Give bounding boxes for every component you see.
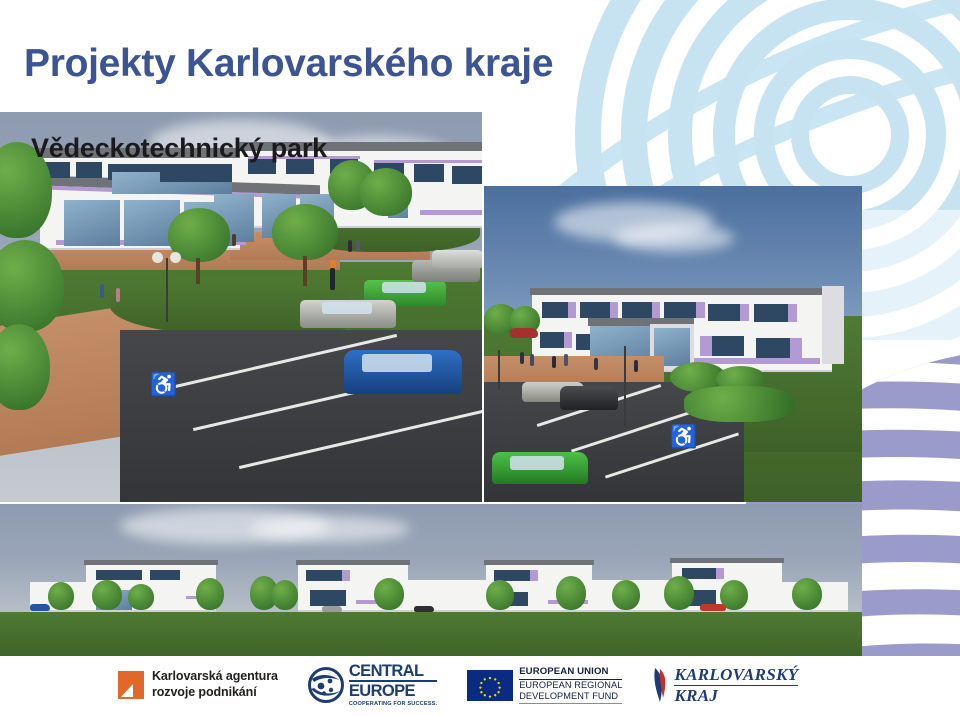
- render-top-left: ♿: [0, 112, 482, 502]
- karlovarska-agentura-logo: Karlovarská agentura rozvoje podnikání: [118, 669, 278, 700]
- ka-line-2: rozvoje podnikání: [152, 685, 257, 699]
- eu-flag-stars-icon: [467, 670, 513, 701]
- orange-square-mark-icon: [118, 671, 144, 699]
- flame-mark-icon: [652, 666, 668, 704]
- render-bottom-wide: [0, 504, 862, 656]
- footer-logo-strip: Karlovarská agentura rozvoje podnikání C…: [118, 662, 798, 708]
- ce-line-1: CENTRAL: [349, 663, 437, 683]
- swirl-globe-mark-icon: [308, 667, 344, 703]
- karlovarsky-kraj-text: KARLOVARSKÝ KRAJ: [674, 665, 798, 704]
- eu-line-2: EUROPEAN REGIONAL: [519, 680, 622, 691]
- ce-tagline: COOPERATING FOR SUCCESS.: [349, 702, 437, 708]
- render-top-right: ♿: [484, 186, 862, 502]
- ka-line-1: Karlovarská agentura: [152, 669, 278, 683]
- slide-subtitle: Vědeckotechnický park: [31, 133, 327, 164]
- karlovarska-agentura-text: Karlovarská agentura rozvoje podnikání: [152, 669, 278, 700]
- eu-line-1: EUROPEAN UNION: [519, 666, 622, 679]
- kk-line-1: KARLOVARSKÝ: [674, 665, 798, 685]
- central-europe-logo: CENTRAL EUROPE COOPERATING FOR SUCCESS.: [308, 663, 437, 708]
- karlovarsky-kraj-logo: KARLOVARSKÝ KRAJ: [652, 665, 798, 704]
- european-union-logo: EUROPEAN UNION EUROPEAN REGIONAL DEVELOP…: [467, 666, 622, 703]
- eu-line-3: DEVELOPMENT FUND: [519, 691, 622, 704]
- slide-title: Projekty Karlovarského kraje: [24, 44, 553, 85]
- presentation-slide: Projekty Karlovarského kraje: [0, 0, 960, 716]
- ce-line-2: EUROPE: [349, 683, 437, 700]
- european-union-text: EUROPEAN UNION EUROPEAN REGIONAL DEVELOP…: [519, 666, 622, 703]
- accessible-parking-icon: ♿: [670, 426, 697, 448]
- central-europe-text: CENTRAL EUROPE COOPERATING FOR SUCCESS.: [349, 663, 437, 708]
- accessible-parking-icon: ♿: [150, 374, 177, 396]
- kk-line-2: KRAJ: [674, 686, 798, 705]
